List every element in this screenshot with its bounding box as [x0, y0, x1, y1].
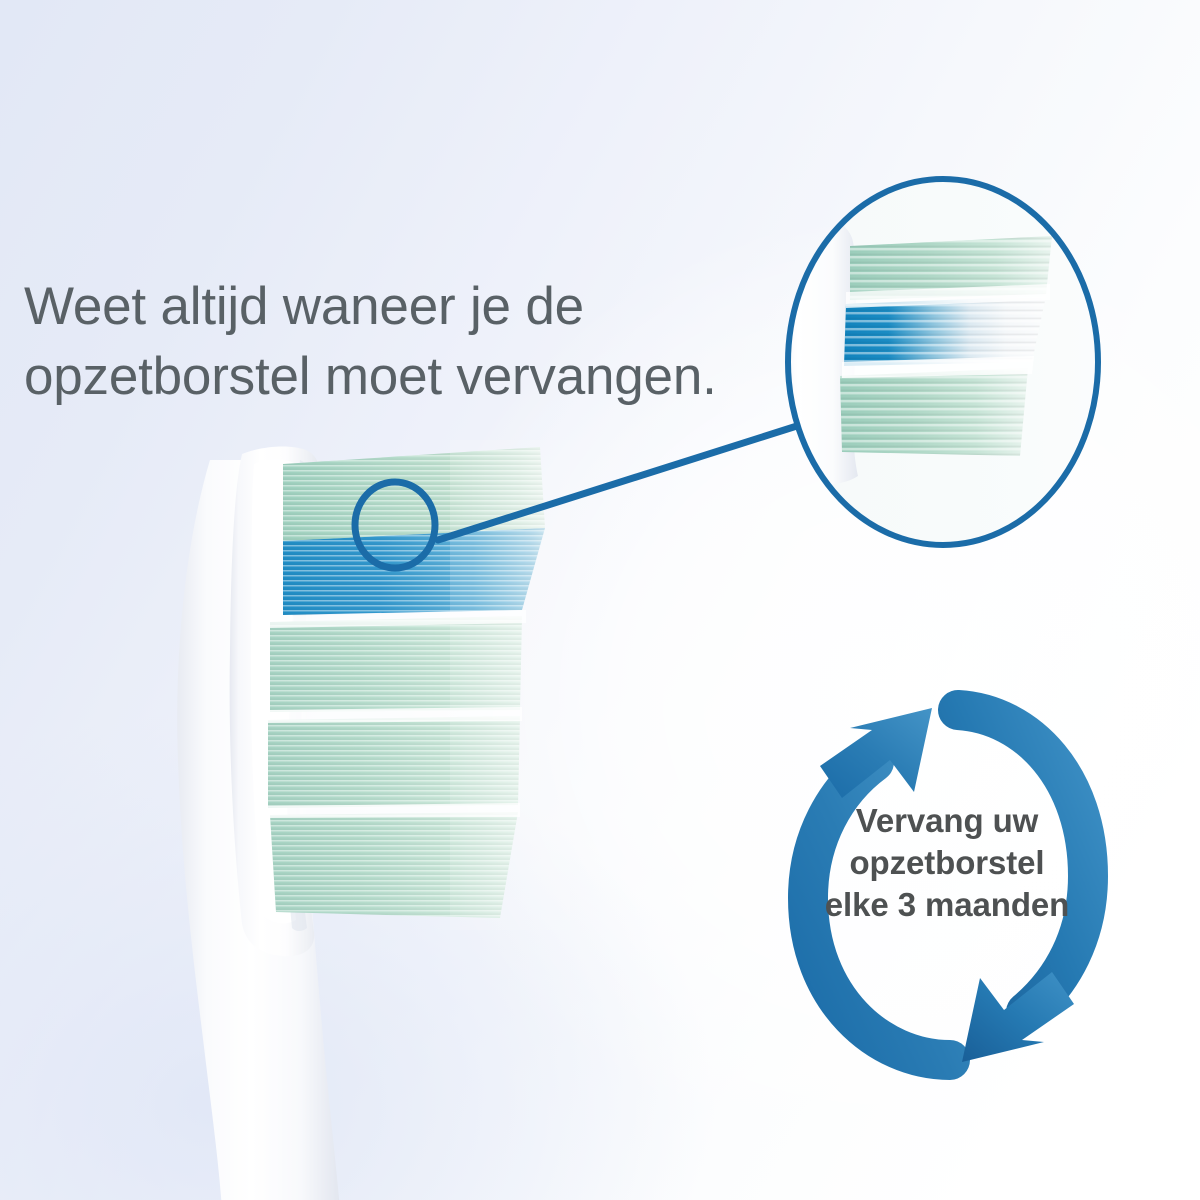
magnifier-circle-icon — [784, 176, 1102, 548]
page-title: Weet altijd waneer je de opzetborstel mo… — [24, 272, 784, 412]
toothbrush-head-icon — [150, 420, 620, 1200]
promo-banner: Vervang uw opzetborstel elke 3 maanden W… — [0, 0, 1200, 1200]
recycle-badge-label: Vervang uw opzetborstel elke 3 maanden — [786, 800, 1108, 927]
